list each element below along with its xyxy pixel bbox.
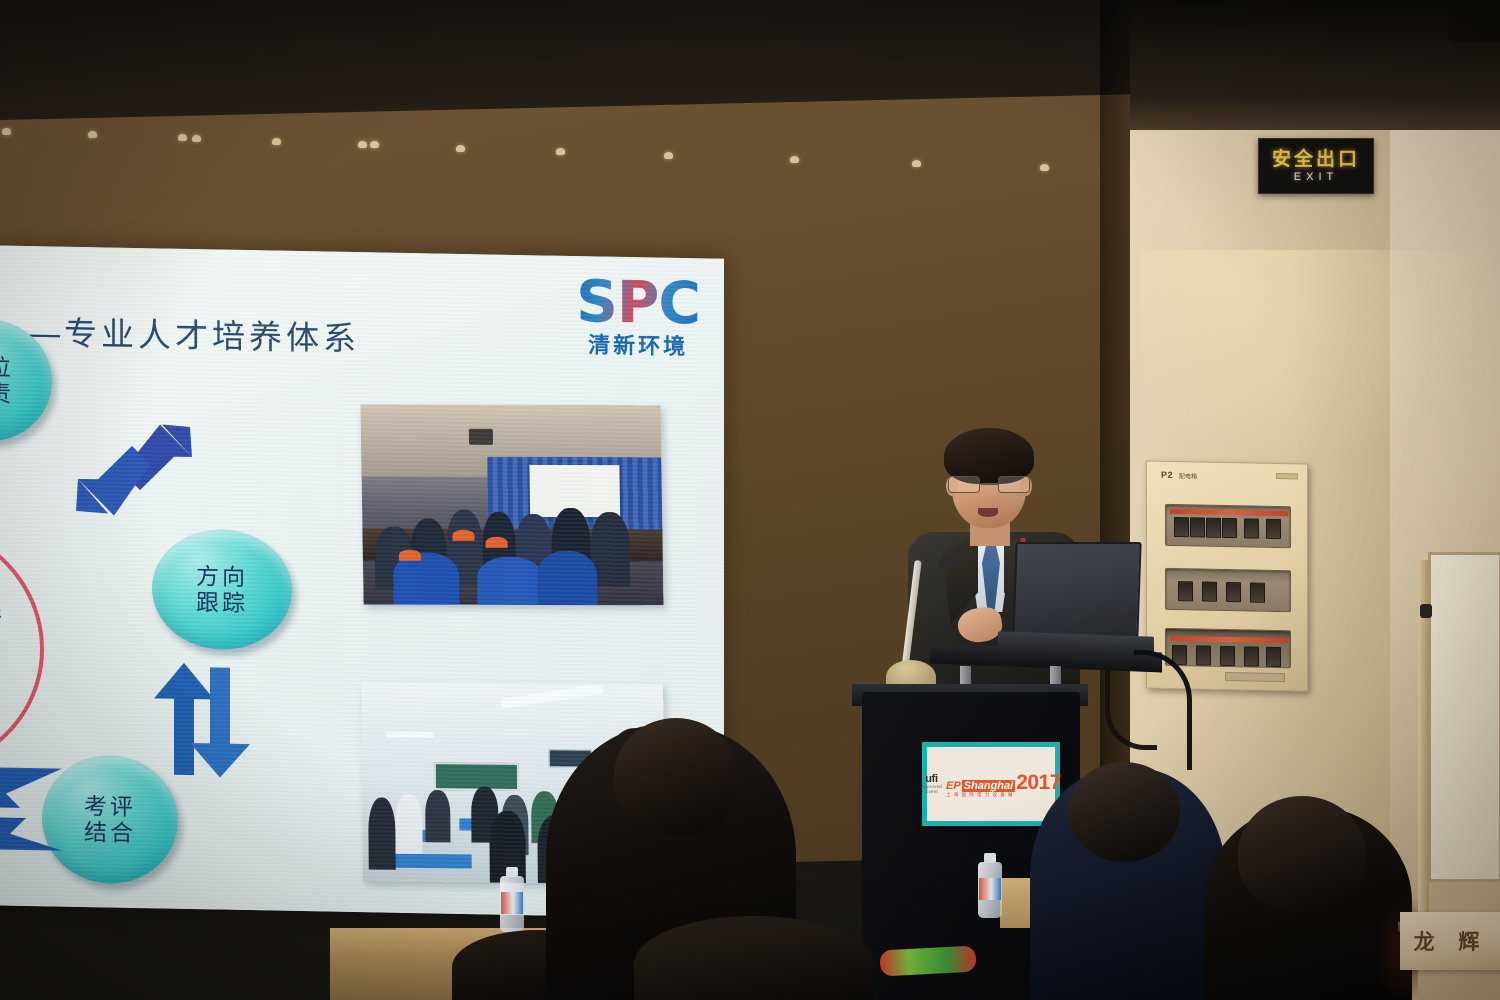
bubble-top-line1: 岗位 [0, 353, 14, 380]
dark-object-top-right [1448, 0, 1500, 42]
wall-light-studs [0, 120, 1140, 160]
spc-logo-subtitle: 清新环境 [576, 327, 700, 361]
ep-logo-cn: 上 海 国 际 电 力 设 备 展 [946, 792, 1015, 798]
exit-sign: 安全出口 EXIT [1258, 138, 1374, 194]
water-bottle [500, 876, 524, 932]
ufi-logo: ufi Approved Event [921, 774, 942, 794]
panel-label: P2 配电箱 [1161, 470, 1197, 481]
breaker-row [1165, 568, 1291, 612]
ep-logo-ep: EP [946, 780, 961, 792]
table-decoration [879, 946, 976, 977]
cycle-arrow-upper-icon [62, 415, 202, 528]
audience-head [1238, 796, 1366, 912]
breaker-strip [1170, 509, 1288, 516]
bubble-right-line2: 跟踪 [196, 589, 248, 616]
ep-logo-year: 2017 [1016, 771, 1061, 795]
desk-nameplate: 龙 辉 [1400, 912, 1500, 970]
panel-bottom-tag [1225, 672, 1285, 682]
spc-logo-mark: SPC [576, 274, 700, 331]
breaker-row [1165, 628, 1291, 668]
slide-title: ——专业人才培养体系 [0, 305, 360, 360]
breaker-row [1165, 504, 1291, 548]
ufi-sub-line-2: Event [921, 790, 942, 795]
nameplate-text: 龙 辉 [1414, 926, 1489, 956]
whiteboard [1428, 552, 1500, 882]
electrical-panel: P2 配电箱 [1146, 460, 1308, 691]
glasses-icon [948, 476, 1032, 494]
cycle-diagram: 岗位 专业人才培养体系 岗位 人责 方向 跟踪 考评 结合 [0, 364, 314, 892]
audience-member [634, 916, 874, 1000]
water-bottle [978, 862, 1002, 918]
exit-sign-label-en: EXIT [1294, 172, 1338, 183]
ceiling-right [1130, 0, 1500, 130]
audience-head [614, 718, 738, 834]
presenter-mouth [978, 508, 998, 517]
audience-head [1068, 762, 1180, 862]
cycle-arrow-lower-icon [138, 658, 258, 780]
bubble-bottom-line1: 考评 [84, 793, 136, 820]
center-ring-label: 岗位 专业人才培养体系 [0, 601, 70, 667]
breaker-strip [1170, 636, 1288, 643]
photo-scene: 安全出口 EXIT P2 配电箱 [0, 0, 1500, 1000]
laptop-screen[interactable] [1012, 542, 1141, 638]
bubble-bottom-line2: 结合 [84, 819, 136, 846]
podium-event-sign: ufi Approved Event EP Shanghai 上 海 国 际 电… [922, 742, 1060, 826]
slide-photo-training-room [360, 404, 663, 605]
ceiling-light-glow [1140, 250, 1500, 470]
bubble-right-line1: 方向 [196, 563, 248, 590]
bubble-top-line2: 人责 [0, 380, 14, 407]
panel-label-sub: 配电箱 [1179, 474, 1197, 480]
ep-shanghai-logo: EP Shanghai 上 海 国 际 电 力 设 备 展 2017 [946, 771, 1061, 798]
exit-sign-label-cn: 安全出口 [1272, 150, 1360, 169]
spc-logo: SPC 清新环境 [576, 274, 700, 361]
bubble-right: 方向 跟踪 [152, 528, 292, 651]
ep-logo-city: Shanghai [962, 780, 1016, 792]
panel-corner-tag [1276, 473, 1298, 479]
whiteboard-clip [1420, 604, 1432, 618]
cycle-arrow-left-icon [0, 763, 76, 855]
panel-label-code: P2 [1161, 470, 1173, 480]
